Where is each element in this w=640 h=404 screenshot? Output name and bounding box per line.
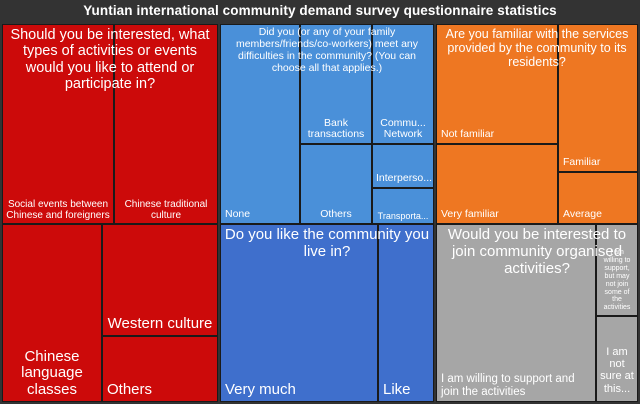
treemap-cell-none[interactable]: None bbox=[220, 24, 300, 224]
treemap-cell-label: None bbox=[225, 209, 296, 221]
treemap-cell-willing-support-not-join[interactable]: I am willing to support, but may not joi… bbox=[596, 224, 638, 316]
treemap-cell-interpersonal[interactable]: Interperso... bbox=[372, 144, 434, 188]
treemap-cell-community-network[interactable]: Commu... Network bbox=[372, 24, 434, 144]
treemap-cell-red-others[interactable]: Others bbox=[102, 336, 218, 402]
treemap-cell-average[interactable]: Average bbox=[558, 172, 638, 224]
treemap-cell-label: Interperso... bbox=[376, 173, 430, 185]
treemap-cell-label: Not familiar bbox=[441, 129, 554, 141]
treemap-chart: Yuntian international community demand s… bbox=[0, 0, 640, 404]
treemap-cell-willing-support-join[interactable]: I am willing to support and join the act… bbox=[436, 224, 596, 402]
treemap-cell-label: Like bbox=[383, 382, 430, 399]
treemap-cell-label: Others bbox=[304, 209, 368, 221]
treemap-cell-chinese-traditional-culture[interactable]: Chinese traditional culture bbox=[114, 24, 218, 224]
treemap-cell-western-culture[interactable]: Western culture bbox=[102, 224, 218, 336]
treemap-cell-label: Chinese traditional culture bbox=[118, 199, 214, 221]
treemap-cell-transportation[interactable]: Transporta... bbox=[372, 188, 434, 224]
treemap-cell-social-events[interactable]: Social events between Chinese and foreig… bbox=[2, 24, 114, 224]
treemap-cell-label: Bank transactions bbox=[304, 118, 368, 142]
treemap-cell-label: Average bbox=[563, 209, 634, 221]
treemap-cell-label: Social events between Chinese and foreig… bbox=[6, 199, 110, 221]
treemap-cell-not-familiar[interactable]: Not familiar bbox=[436, 24, 558, 144]
treemap-cell-very-much[interactable]: Very much bbox=[220, 224, 378, 402]
chart-title: Yuntian international community demand s… bbox=[0, 0, 640, 22]
treemap-cell-label: I am not sure at this... bbox=[600, 346, 634, 395]
treemap-cell-not-sure[interactable]: I am not sure at this... bbox=[596, 316, 638, 402]
treemap-cell-label: Familiar bbox=[563, 157, 634, 169]
treemap-plot-area: Social events between Chinese and foreig… bbox=[0, 22, 640, 404]
treemap-cell-label: I am willing to support, but may not joi… bbox=[600, 249, 634, 312]
treemap-cell-blue-others[interactable]: Others bbox=[300, 144, 372, 224]
treemap-cell-label: Chinese language classes bbox=[6, 349, 98, 399]
treemap-cell-label: Very familiar bbox=[441, 209, 554, 221]
treemap-cell-label: Western culture bbox=[106, 316, 214, 333]
treemap-cell-label: Commu... Network bbox=[376, 118, 430, 142]
treemap-cell-label: I am willing to support and join the act… bbox=[441, 373, 592, 399]
treemap-cell-like[interactable]: Like bbox=[378, 224, 434, 402]
treemap-cell-label: Others bbox=[107, 382, 214, 399]
treemap-cell-label: Transporta... bbox=[376, 211, 430, 221]
treemap-cell-chinese-language-classes[interactable]: Chinese language classes bbox=[2, 224, 102, 402]
treemap-cell-label: Very much bbox=[225, 382, 374, 399]
treemap-cell-familiar[interactable]: Familiar bbox=[558, 24, 638, 172]
treemap-cell-bank-transactions[interactable]: Bank transactions bbox=[300, 24, 372, 144]
treemap-cell-very-familiar[interactable]: Very familiar bbox=[436, 144, 558, 224]
